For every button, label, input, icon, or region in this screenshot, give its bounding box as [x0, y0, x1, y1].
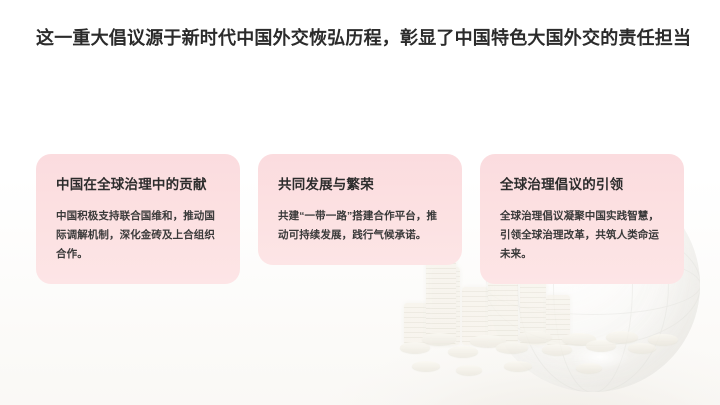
globe-highlight: [570, 344, 630, 370]
coin: [562, 333, 596, 345]
coin: [422, 333, 456, 345]
coin: [518, 331, 552, 343]
coin: [576, 363, 602, 373]
coin: [412, 361, 440, 371]
card-row: 中国在全球治理中的贡献 中国积极支持联合国维和，推动国际调解机制，深化金砖及上合…: [36, 154, 686, 284]
coin: [648, 334, 678, 345]
coin: [448, 346, 478, 357]
coin: [456, 365, 482, 375]
info-card-1-title: 中国在全球治理中的贡献: [56, 176, 220, 194]
scattered-coins: [396, 327, 696, 383]
info-card-3: 全球治理倡议的引领 全球治理倡议凝聚中国实践智慧，引领全球治理改革，共筑人类命运…: [480, 154, 684, 284]
page-title: 这一重大倡议源于新时代中国外交恢弘历程，彰显了中国特色大国外交的责任担当: [36, 25, 696, 51]
info-card-2-body: 共建“一带一路”搭建合作平台，推动可持续发展，践行气候承诺。: [278, 207, 442, 245]
info-card-2: 共同发展与繁荣 共建“一带一路”搭建合作平台，推动可持续发展，践行气候承诺。: [258, 154, 462, 265]
coin: [400, 342, 430, 353]
slide-root: 这一重大倡议源于新时代中国外交恢弘历程，彰显了中国特色大国外交的责任担当 中国在…: [0, 0, 720, 405]
info-card-3-body: 全球治理倡议凝聚中国实践智慧，引领全球治理改革，共筑人类命运未来。: [500, 207, 664, 264]
info-card-1: 中国在全球治理中的贡献 中国积极支持联合国维和，推动国际调解机制，深化金砖及上合…: [36, 154, 240, 284]
coin: [496, 342, 528, 353]
coin: [586, 340, 616, 351]
coin: [504, 361, 532, 371]
coin-stack: [404, 303, 430, 345]
info-card-1-body: 中国积极支持联合国维和，推动国际调解机制，深化金砖及上合组织合作。: [56, 207, 220, 264]
coin: [628, 343, 656, 353]
coin: [542, 344, 572, 355]
coin: [470, 335, 506, 347]
info-card-3-title: 全球治理倡议的引领: [500, 176, 664, 194]
coin: [606, 331, 638, 343]
info-card-2-title: 共同发展与繁荣: [278, 176, 442, 194]
coin-stack: [546, 295, 570, 345]
coin-stack: [462, 287, 488, 345]
